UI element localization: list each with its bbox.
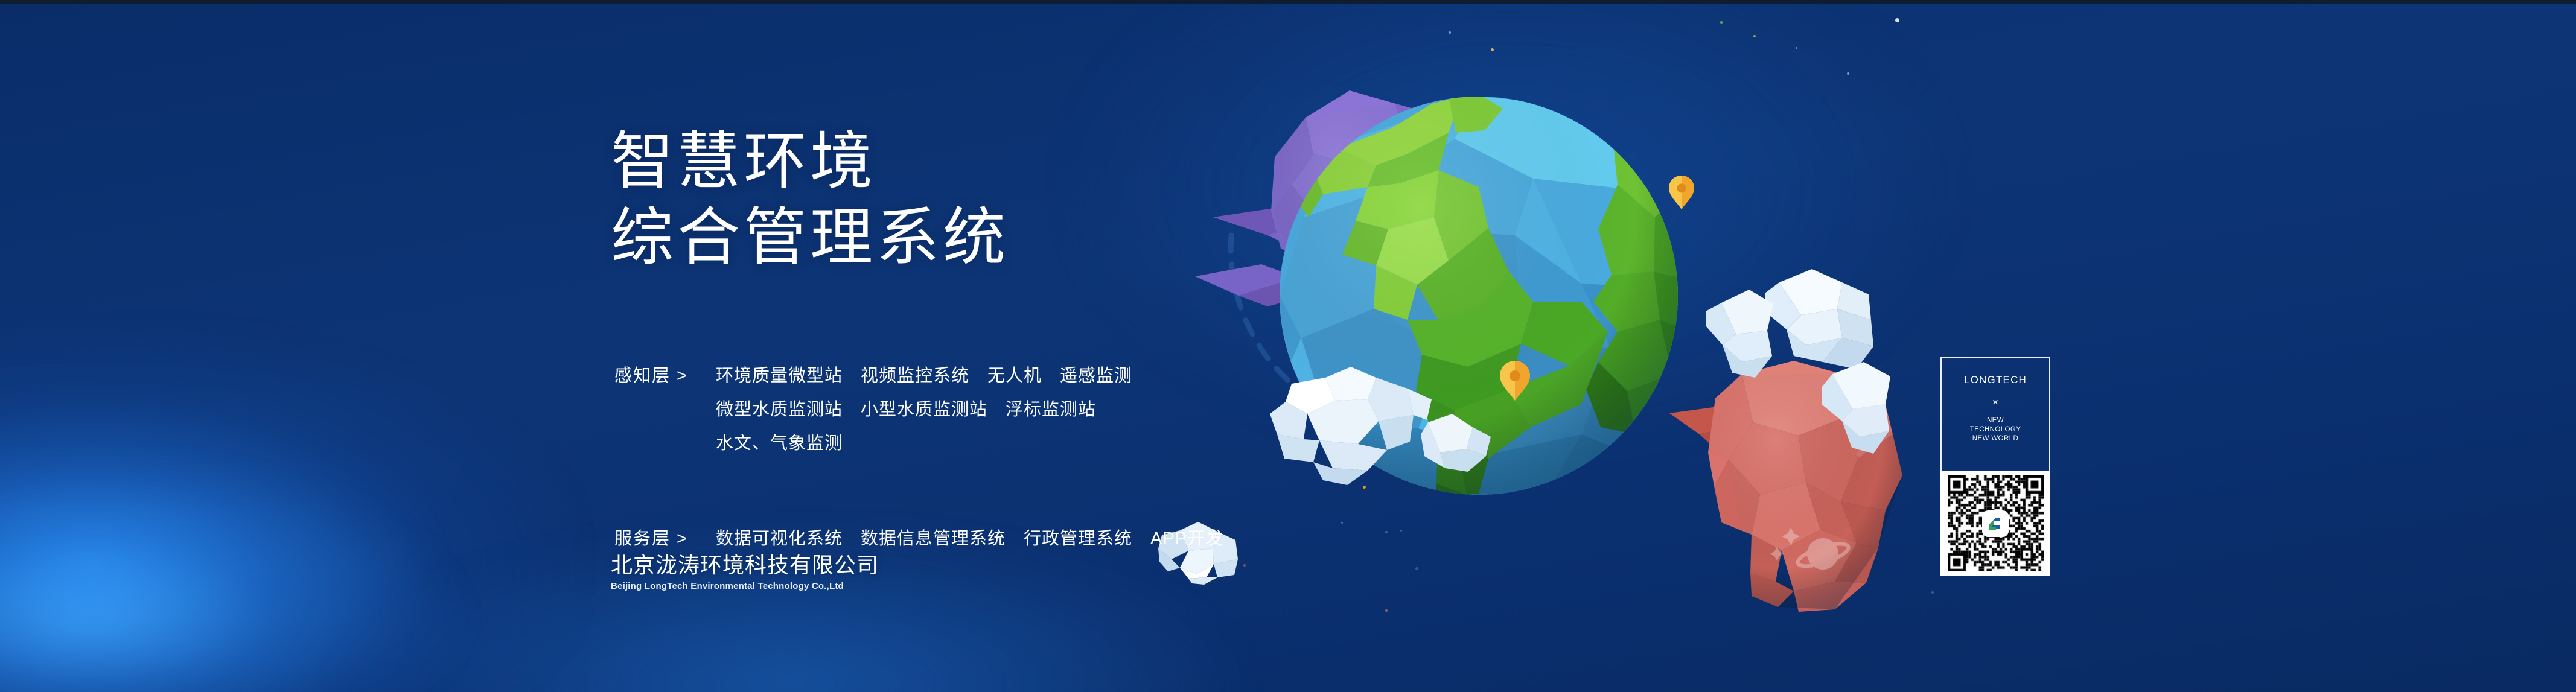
headline-block: 智慧环境 综合管理系统 [611, 124, 1009, 276]
layer-item[interactable]: 微型水质监测站 [716, 396, 843, 424]
layer-label-perception[interactable]: 感知层 > [614, 362, 716, 390]
tagline-line-1: NEW [1970, 416, 2021, 425]
tagline-line-3: NEW WORLD [1970, 434, 2021, 443]
layer-item[interactable]: 环境质量微型站 [716, 362, 843, 390]
headline-line-1: 智慧环境 [611, 124, 1009, 200]
layer-item[interactable]: 数据信息管理系统 [861, 525, 1006, 553]
brand-name: LONGTECH [1964, 374, 2027, 386]
layer-row: 微型水质监测站 小型水质监测站 浮标监测站 [716, 396, 1132, 424]
layer-group-service: 服务层 > 数据可视化系统 数据信息管理系统 行政管理系统 APP开发 [614, 525, 1223, 553]
company-name-en: Beijing LongTech Environmental Technolog… [611, 580, 879, 593]
layer-row: 环境质量微型站 视频监控系统 无人机 遥感监测 [716, 362, 1132, 390]
tagline-line-2: TECHNOLOGY [1970, 425, 2021, 434]
qr-code-area[interactable] [1940, 471, 2050, 576]
qr-center-logo [1983, 512, 2007, 536]
layer-item[interactable]: 浮标监测站 [1006, 396, 1096, 424]
tagline: NEW TECHNOLOGY NEW WORLD [1970, 416, 2021, 443]
layer-list: 感知层 > 环境质量微型站 视频监控系统 无人机 遥感监测 微型水质监测站 小型… [614, 362, 1223, 553]
layer-row: 水文、气象监测 [716, 430, 1132, 457]
headline-line-2: 综合管理系统 [611, 200, 1009, 276]
layer-item[interactable]: 遥感监测 [1060, 362, 1132, 390]
company-name-cn: 北京泷涛环境科技有限公司 [611, 552, 879, 579]
layer-item[interactable]: 数据可视化系统 [716, 525, 843, 553]
layer-item[interactable]: 无人机 [987, 362, 1042, 390]
company-signature: 北京泷涛环境科技有限公司 Beijing LongTech Environmen… [611, 552, 879, 593]
layer-item[interactable]: APP开发 [1150, 525, 1223, 553]
layer-label-service[interactable]: 服务层 > [614, 525, 716, 553]
layer-row: 数据可视化系统 数据信息管理系统 行政管理系统 APP开发 [716, 525, 1223, 553]
layer-group-perception: 感知层 > 环境质量微型站 视频监控系统 无人机 遥感监测 微型水质监测站 小型… [614, 362, 1223, 457]
promo-banner: 智慧环境 综合管理系统 感知层 > 环境质量微型站 视频监控系统 无人机 遥感监… [0, 0, 2576, 692]
qr-card[interactable]: LONGTECH × NEW TECHNOLOGY NEW WORLD [1940, 357, 2050, 576]
layer-rows-service: 数据可视化系统 数据信息管理系统 行政管理系统 APP开发 [716, 525, 1223, 553]
separator-x: × [1992, 396, 1998, 408]
layer-rows-perception: 环境质量微型站 视频监控系统 无人机 遥感监测 微型水质监测站 小型水质监测站 … [716, 362, 1132, 457]
top-edge-strip [0, 0, 2576, 4]
layer-item[interactable]: 水文、气象监测 [716, 430, 843, 457]
layer-item[interactable]: 行政管理系统 [1024, 525, 1132, 553]
background-glow-left-bright [0, 459, 471, 692]
layer-item[interactable]: 小型水质监测站 [861, 396, 987, 424]
qr-card-header: LONGTECH × NEW TECHNOLOGY NEW WORLD [1940, 357, 2050, 471]
location-pin-africa [1669, 176, 1694, 209]
layer-item[interactable]: 视频监控系统 [861, 362, 969, 390]
